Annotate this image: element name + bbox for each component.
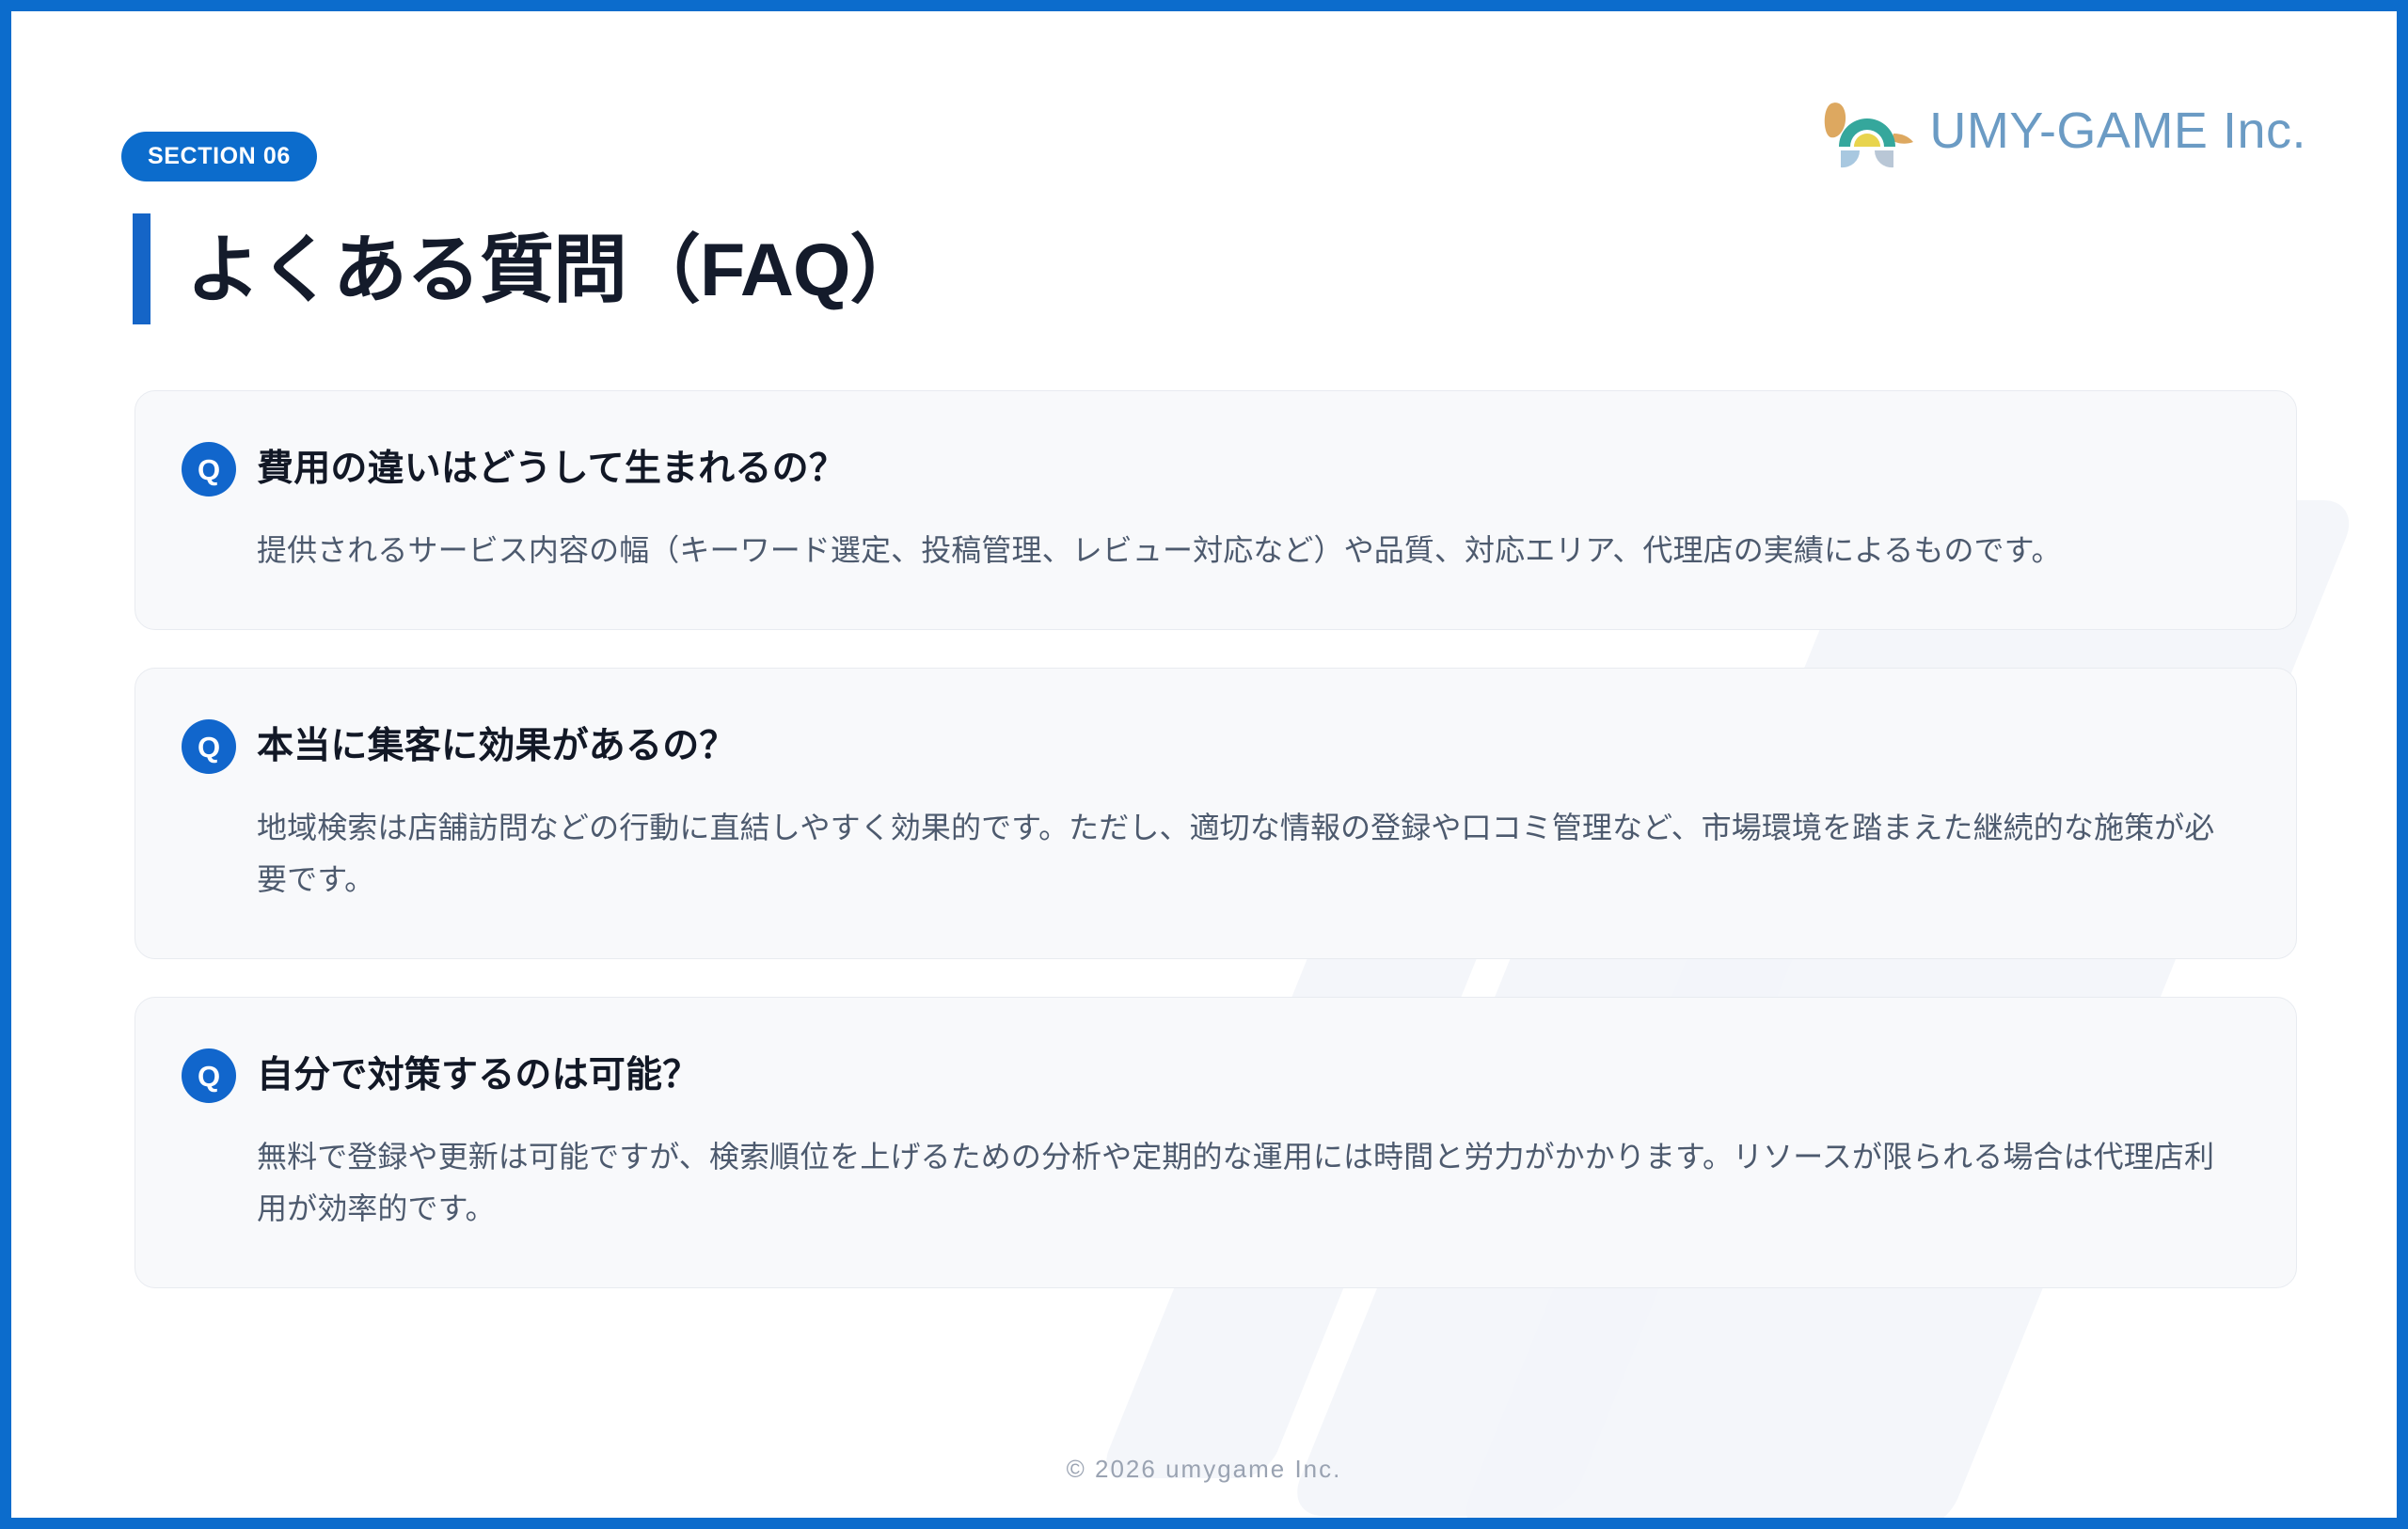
question-badge-icon: Q [182, 442, 236, 497]
page-title: よくある質問（FAQ） [186, 232, 923, 307]
faq-answer: 地域検索は店舗訪問などの行動に直結しやすく効果的です。ただし、適切な情報の登録や… [257, 802, 2234, 906]
faq-question: 費用の違いはどうして生まれるの？ [257, 449, 846, 491]
faq-question-row: Q 本当に集客に効果があるの？ [182, 719, 2234, 774]
umygame-mark-icon [1818, 92, 1916, 169]
slide-canvas: SECTION 06 よくある質問（FAQ） [11, 11, 2397, 1518]
faq-answer: 提供されるサービス内容の幅（キーワード選定、投稿管理、レビュー対応など）や品質、… [257, 525, 2234, 576]
faq-card[interactable]: Q 自分で対策するのは可能？ 無料で登録や更新は可能ですが、検索順位を上げるため… [135, 997, 2297, 1288]
faq-card[interactable]: Q 費用の違いはどうして生まれるの？ 提供されるサービス内容の幅（キーワード選定… [135, 390, 2297, 630]
logo-wordmark: UMY-GAME Inc. [1929, 105, 2306, 156]
slide-frame: SECTION 06 よくある質問（FAQ） [0, 0, 2408, 1529]
faq-card[interactable]: Q 本当に集客に効果があるの？ 地域検索は店舗訪問などの行動に直結しやすく効果的… [135, 668, 2297, 959]
faq-list: Q 費用の違いはどうして生まれるの？ 提供されるサービス内容の幅（キーワード選定… [135, 390, 2297, 1288]
faq-answer: 無料で登録や更新は可能ですが、検索順位を上げるための分析や定期的な運用には時間と… [257, 1131, 2234, 1235]
faq-question-row: Q 費用の違いはどうして生まれるの？ [182, 442, 2234, 497]
footer-copyright: © 2026 umygame Inc. [11, 1455, 2397, 1484]
question-badge-icon: Q [182, 719, 236, 774]
company-logo: UMY-GAME Inc. [1818, 92, 2306, 169]
section-badge: SECTION 06 [121, 132, 317, 181]
question-badge-icon: Q [182, 1048, 236, 1103]
faq-question-row: Q 自分で対策するのは可能？ [182, 1048, 2234, 1103]
faq-question: 自分で対策するのは可能？ [257, 1055, 699, 1097]
title-accent-bar [133, 213, 150, 324]
faq-question: 本当に集客に効果があるの？ [257, 726, 737, 768]
slide-header: SECTION 06 よくある質問（FAQ） [11, 11, 2397, 340]
page-title-group: よくある質問（FAQ） [133, 211, 923, 327]
